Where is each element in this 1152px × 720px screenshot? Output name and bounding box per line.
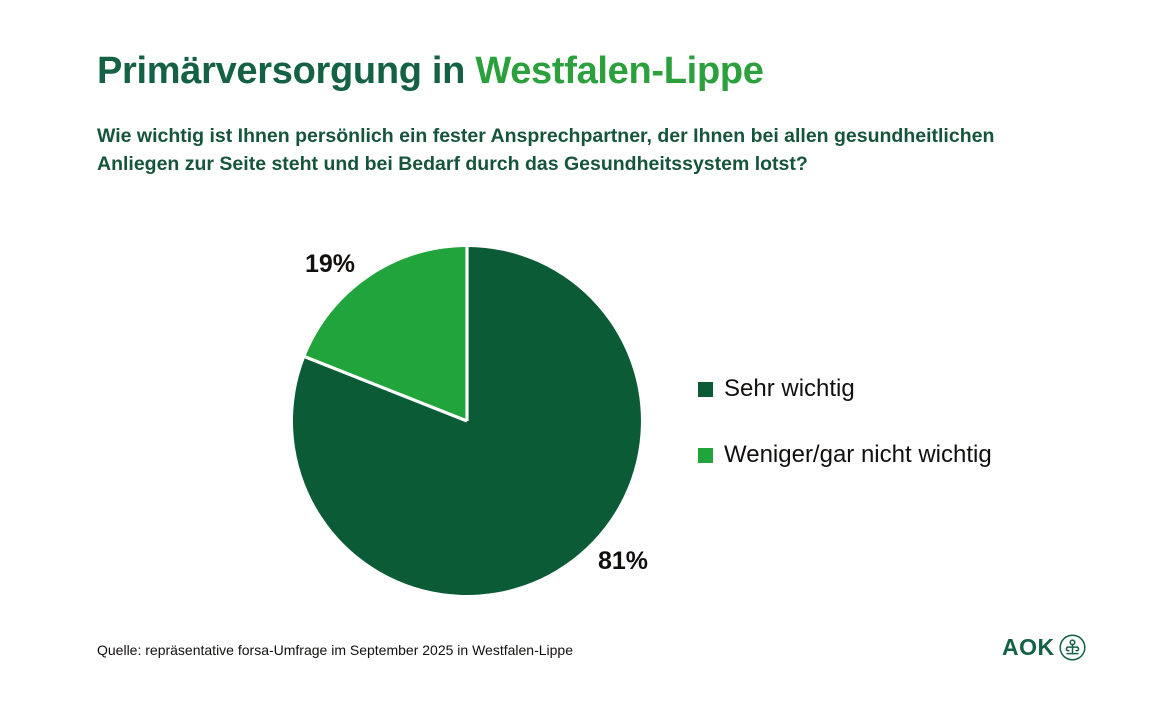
aok-wordmark: AOK — [1002, 636, 1055, 659]
square-icon — [698, 382, 713, 397]
pie-label-weniger-gar-nicht-wichtig: 19% — [305, 250, 355, 279]
square-icon — [698, 448, 713, 463]
aok-logo: AOK — [1002, 634, 1086, 661]
pie-chart-svg — [287, 247, 647, 595]
aok-lebensbaum-circle-icon — [1059, 634, 1086, 661]
chart-legend: Sehr wichtig Weniger/gar nicht wichtig — [698, 377, 992, 467]
legend-item-weniger-gar-nicht-wichtig[interactable]: Weniger/gar nicht wichtig — [698, 443, 992, 467]
legend-item-sehr-wichtig[interactable]: Sehr wichtig — [698, 377, 992, 401]
legend-item-label: Sehr wichtig — [724, 377, 855, 401]
source-note: Quelle: repräsentative forsa-Umfrage im … — [97, 642, 573, 658]
pie-label-sehr-wichtig: 81% — [598, 547, 648, 576]
pie-chart: 19% 81% Sehr wichtig Weniger/gar nicht w… — [0, 0, 1152, 720]
legend-item-label: Weniger/gar nicht wichtig — [724, 443, 992, 467]
